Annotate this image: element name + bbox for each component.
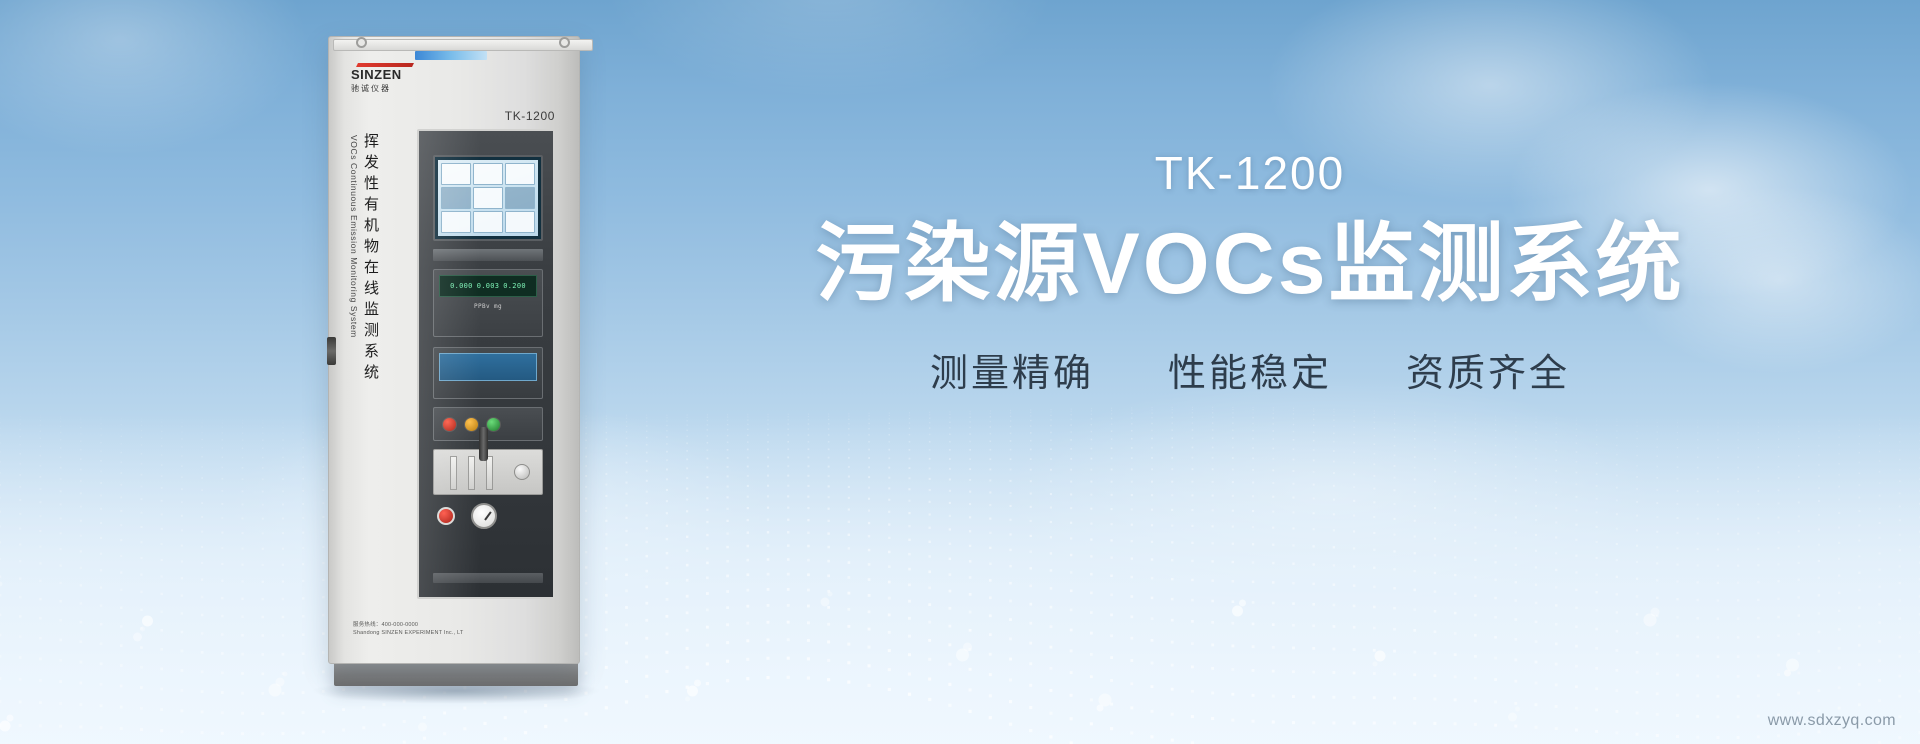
lcd-value: 0.003 [477,282,500,290]
emergency-stop-icon [437,507,455,525]
controller-lcd [439,353,537,381]
brand-name-cn: 驰诚仪器 [351,83,439,94]
analyzer-readout-module: 0.000 0.003 0.200 PPBv mg [433,269,543,337]
feature-item-2: 资质齐全 [1406,355,1570,393]
indicator-lamp-icon [486,417,501,432]
hmi-tile [505,211,535,233]
hmi-tile [473,187,503,209]
hmi-tile [441,163,471,185]
lifting-ring-icon [356,37,367,48]
indicator-lamp-row [433,407,543,441]
analyzer-lcd: 0.000 0.003 0.200 [439,275,537,297]
bottom-haze [0,414,1920,744]
valve-knob-icon [514,464,530,480]
brand-name: SINZEN [351,68,439,82]
lcd-value: 0.200 [503,282,526,290]
cabinet-side-latch [327,337,336,365]
product-model-eyebrow: TK-1200 [660,150,1840,196]
analyzer-units-label: PPBv mg [439,303,537,310]
pressure-gauge-icon [471,503,497,529]
accent-strip [415,51,487,60]
site-watermark: www.sdxzyq.com [1768,712,1896,730]
instrument-label-strip [433,249,543,261]
feature-item-0: 测量精确 [930,355,1094,393]
cabinet-vertical-text: 挥发性有机物在线监测系统 VOCs Continuous Emission Mo… [349,133,378,385]
hmi-tile [505,187,535,209]
cabinet-glass-door: 0.000 0.003 0.200 PPBv mg [417,129,555,599]
cabinet-vertical-text-en: VOCs Continuous Emission Monitoring Syst… [349,135,359,338]
hero-copy: TK-1200 污染源VOCs监测系统 测量精确 性能稳定 资质齐全 [660,150,1840,393]
rotameter-tube-icon [468,456,475,490]
hmi-tile [441,211,471,233]
hmi-tile [505,163,535,185]
hmi-touchscreen [433,155,543,241]
flow-control-module [433,449,543,495]
product-image-tk1200: SINZEN 驰诚仪器 TK-1200 挥发性有机物在线监测系统 VOCs Co… [320,28,590,688]
door-footer-strip [433,573,543,583]
service-line-1: 服务热线：400-000-0000 [353,621,463,629]
cloud-bloom [520,0,1140,140]
hmi-screen [438,160,538,236]
cabinet-model-label: TK-1200 [505,109,555,123]
hmi-tile [473,163,503,185]
hmi-tile [473,211,503,233]
brand-swoosh-icon [356,63,414,67]
dot-grid-wave [0,384,1920,744]
feature-item-1: 性能稳定 [1168,355,1332,393]
lcd-value: 0.000 [450,282,473,290]
feature-list: 测量精确 性能稳定 资质齐全 [660,355,1840,393]
cabinet-top-cap [333,39,593,51]
cabinet-vertical-text-cn: 挥发性有机物在线监测系统 [363,133,378,385]
page-title: 污染源VOCs监测系统 [660,218,1840,311]
brand-logo: SINZEN 驰诚仪器 [351,63,439,94]
door-handle-icon [479,427,488,461]
rotameter-tube-icon [486,456,493,490]
cabinet-service-text: 服务热线：400-000-0000 Shandong SINZEN EXPERI… [353,621,463,638]
rotameter-tube-icon [450,456,457,490]
service-line-2: Shandong SINZEN EXPERIMENT Inc., LT [353,629,463,637]
cabinet-body: SINZEN 驰诚仪器 TK-1200 挥发性有机物在线监测系统 VOCs Co… [328,36,580,664]
hero-banner: SINZEN 驰诚仪器 TK-1200 挥发性有机物在线监测系统 VOCs Co… [0,0,1920,744]
hmi-tile [441,187,471,209]
lifting-ring-icon [559,37,570,48]
indicator-lamp-icon [464,417,479,432]
indicator-lamp-icon [442,417,457,432]
controller-panel [433,347,543,399]
